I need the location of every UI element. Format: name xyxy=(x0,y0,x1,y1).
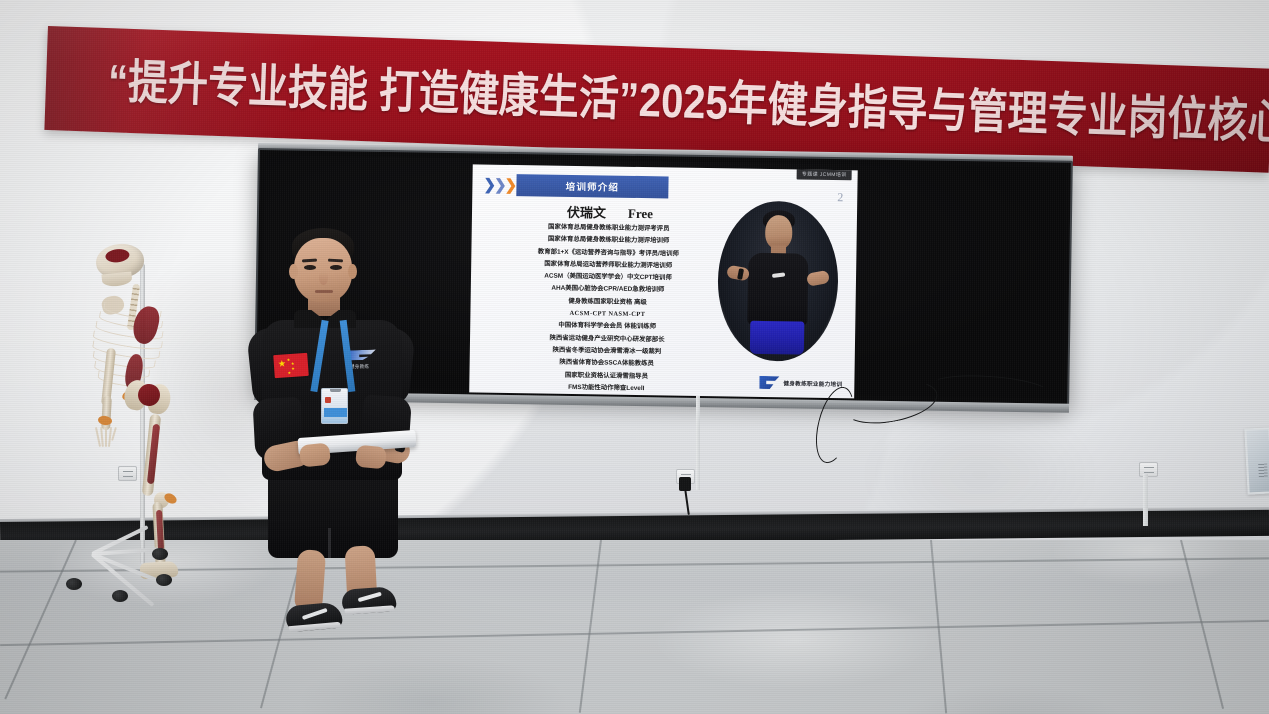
flag-star-icon: ★ xyxy=(291,366,295,371)
presenter-left-ear xyxy=(289,264,298,279)
shorts-seam xyxy=(328,528,331,558)
skeleton-roller-stand xyxy=(30,552,200,604)
portrait-blue-shorts xyxy=(750,321,805,355)
trainer-name: 伏瑞文Free xyxy=(500,201,720,223)
presenter-left-eye xyxy=(304,265,316,270)
trainer-portrait-photo xyxy=(717,200,839,362)
trainer-name-cn: 伏瑞文 xyxy=(567,205,606,221)
id-badge xyxy=(321,388,348,424)
shoe-stripe xyxy=(358,592,382,602)
skeleton-jaw xyxy=(101,271,132,287)
f-logo-icon xyxy=(759,376,779,390)
presentation-slide: 专题课 JCMM培训 ❯❯❯ 培训师介绍 2 伏瑞文Free 国家体育总局健身教… xyxy=(469,164,858,398)
presenter-right-hand xyxy=(355,445,387,470)
badge-blue-bar xyxy=(324,408,347,417)
presenter-shorts xyxy=(268,472,398,558)
presenter-right-eye xyxy=(330,265,342,270)
wall-outlet[interactable] xyxy=(118,466,137,481)
presenter-left-hand xyxy=(299,442,331,467)
stand-caster xyxy=(152,548,168,560)
skull-cap-cutaway xyxy=(105,248,130,263)
presenter-right-shoe xyxy=(341,586,397,615)
brand-label: 健身教练职业能力培训 xyxy=(783,379,842,388)
slide-page-number: 2 xyxy=(837,190,843,205)
framed-notice[interactable] xyxy=(1244,427,1269,494)
stand-caster xyxy=(66,578,82,590)
presenter-nose xyxy=(319,271,328,285)
portrait-right-arm xyxy=(806,270,830,287)
banner-fold-shadow xyxy=(44,26,168,134)
slide-brand-logo: 健身教练职业能力培训 xyxy=(759,376,842,391)
chinese-flag-patch: ★ ★ ★ ★ ★ xyxy=(273,353,309,378)
chest-brand-text: 健身教练 xyxy=(350,364,369,370)
wall-conduit xyxy=(696,396,700,490)
slide-header-box: 培训师介绍 xyxy=(516,174,668,198)
wall-conduit xyxy=(1143,474,1148,526)
trainer-name-en: Free xyxy=(628,206,653,221)
flag-star-icon: ★ xyxy=(278,359,287,369)
stand-caster xyxy=(156,574,172,586)
trainer-credentials-list: 国家体育总局健身教练职业能力测评考评员国家体育总局健身教练职业能力测评培训师教育… xyxy=(483,221,732,399)
slide-watermark: 专题课 JCMM培训 xyxy=(797,168,852,180)
presenter-left-shoe xyxy=(285,602,343,633)
shoe-sole xyxy=(289,622,341,633)
skeleton-hand xyxy=(96,427,114,449)
slide-header-label: 培训师介绍 xyxy=(566,179,620,194)
wall-outlet[interactable] xyxy=(1139,462,1158,477)
chevron-right-icon: ❯❯❯ xyxy=(483,178,515,193)
presenter-person: ★ ★ ★ ★ ★ 健身教练 xyxy=(236,228,456,638)
presenter-right-ear xyxy=(348,264,357,279)
anatomical-skeleton-model xyxy=(78,244,218,594)
presenter-mouth xyxy=(315,290,333,293)
portrait-torso xyxy=(747,253,808,326)
flag-star-icon: ★ xyxy=(287,370,291,375)
badge-clip xyxy=(330,388,341,392)
shoe-stripe xyxy=(302,608,328,620)
photo-scene: “提升专业技能 打造健康生活”2025年健身指导与管理专业岗位核心能力提升培训 … xyxy=(0,0,1269,714)
badge-photo xyxy=(325,397,331,403)
stand-caster xyxy=(112,590,128,602)
stand-leg xyxy=(91,552,161,583)
shoe-sole xyxy=(345,605,395,614)
